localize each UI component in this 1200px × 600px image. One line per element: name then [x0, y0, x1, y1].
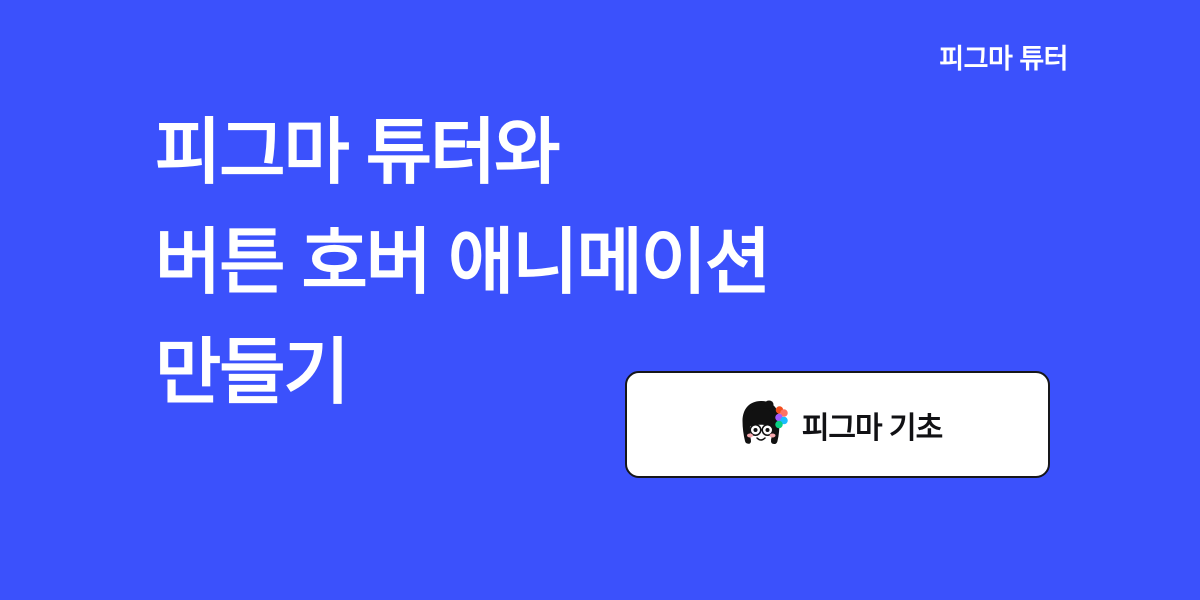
course-button-label: 피그마 기초: [802, 403, 942, 447]
headline-line-2: 버튼 호버 애니메이션: [155, 208, 1055, 318]
tutor-avatar-icon: [733, 397, 789, 453]
brand-logo: 피그마 튜터: [939, 42, 1068, 76]
course-button[interactable]: 피그마 기초: [625, 371, 1050, 478]
headline-line-1: 피그마 튜터와: [155, 98, 1055, 208]
promo-banner: 피그마 튜터 피그마 튜터와 버튼 호버 애니메이션 만들기: [0, 0, 1200, 600]
